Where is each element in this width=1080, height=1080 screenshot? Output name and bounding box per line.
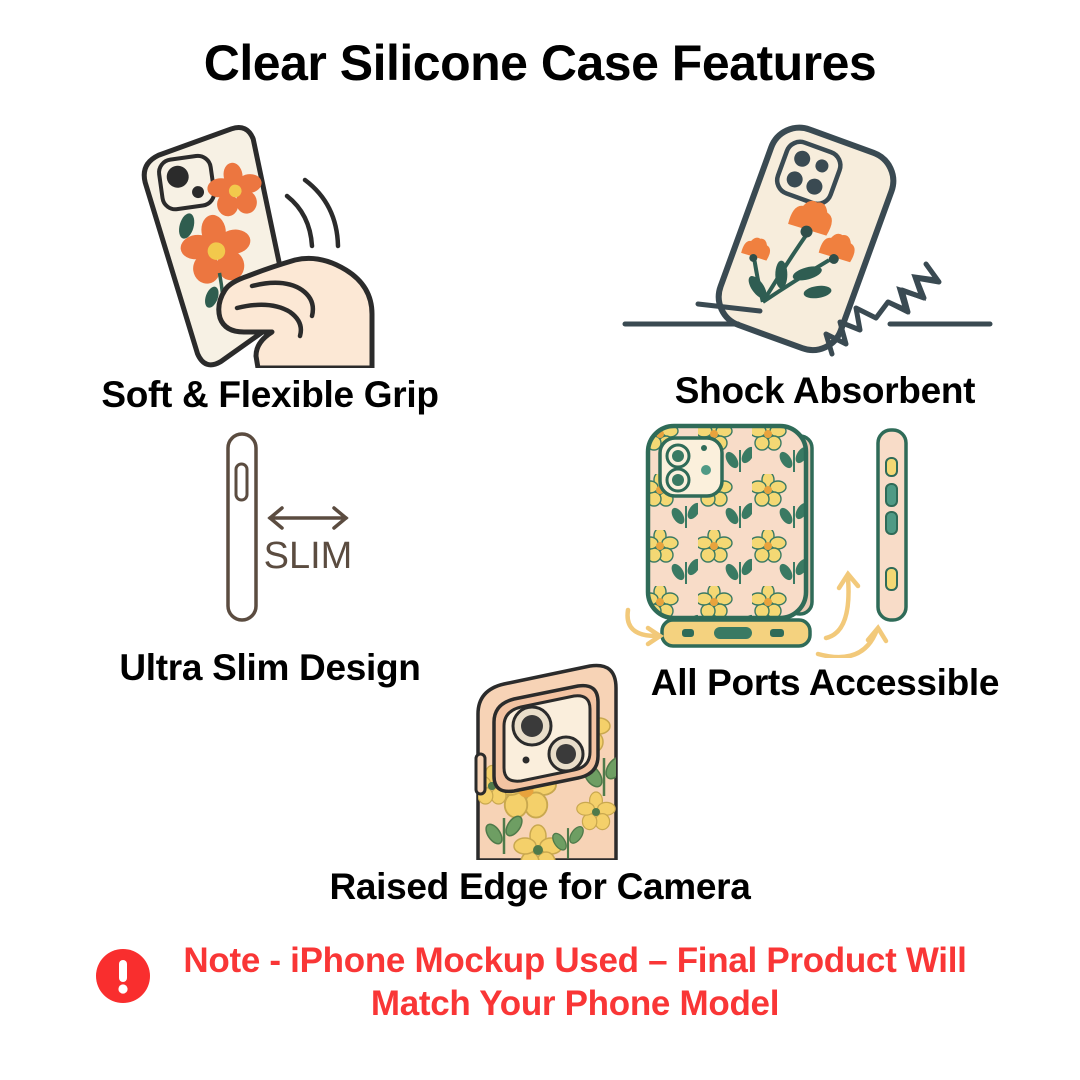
page-title: Clear Silicone Case Features [0, 34, 1080, 92]
raised-camera-bezel [494, 686, 598, 792]
side-button-icon [476, 754, 485, 794]
case-bottom-edge [662, 620, 810, 646]
note-text: Note - iPhone Mockup Used – Final Produc… [165, 940, 985, 1025]
phone-case-graphic [472, 665, 627, 860]
side-button-icon [236, 464, 247, 500]
phone-side-profile [228, 434, 256, 620]
note-banner: Note - iPhone Mockup Used – Final Produc… [0, 940, 1080, 1025]
infographic-page: Clear Silicone Case Features [0, 0, 1080, 1080]
feature-label: Raised Edge for Camera [290, 866, 790, 908]
feature-label: Soft & Flexible Grip [20, 374, 520, 416]
speaker-cutout [770, 629, 784, 637]
slim-caption: SLIM [264, 535, 353, 577]
side-button-cutout [886, 484, 897, 506]
side-button-cutout [886, 458, 897, 476]
camera-flash-icon [523, 757, 530, 764]
motion-lines-icon [287, 180, 338, 246]
feature-label: Shock Absorbent [590, 370, 1060, 412]
slim-profile-illustration: SLIM [20, 420, 520, 635]
feature-soft-flexible-grip: Soft & Flexible Grip [20, 118, 520, 416]
feature-shock-absorbent: Shock Absorbent [590, 112, 1060, 412]
case-side-view [878, 430, 906, 620]
shock-impact-illustration [590, 112, 1060, 362]
width-arrow-icon [270, 508, 346, 528]
exclamation-circle-icon [95, 948, 151, 1009]
side-button-cutout [886, 568, 897, 590]
side-button-cutout [886, 512, 897, 534]
camera-lens-icon [521, 715, 543, 737]
hand-flex-case-illustration [20, 118, 520, 368]
ports-access-illustration [590, 418, 1060, 658]
camera-lens-icon [556, 744, 576, 764]
feature-ultra-slim-design: SLIM Ultra Slim Design [20, 420, 520, 689]
charging-port-cutout [714, 627, 752, 639]
feature-raised-edge-for-camera: Raised Edge for Camera [290, 660, 790, 908]
raised-camera-edge-illustration [290, 660, 790, 860]
speaker-cutout [682, 629, 694, 637]
